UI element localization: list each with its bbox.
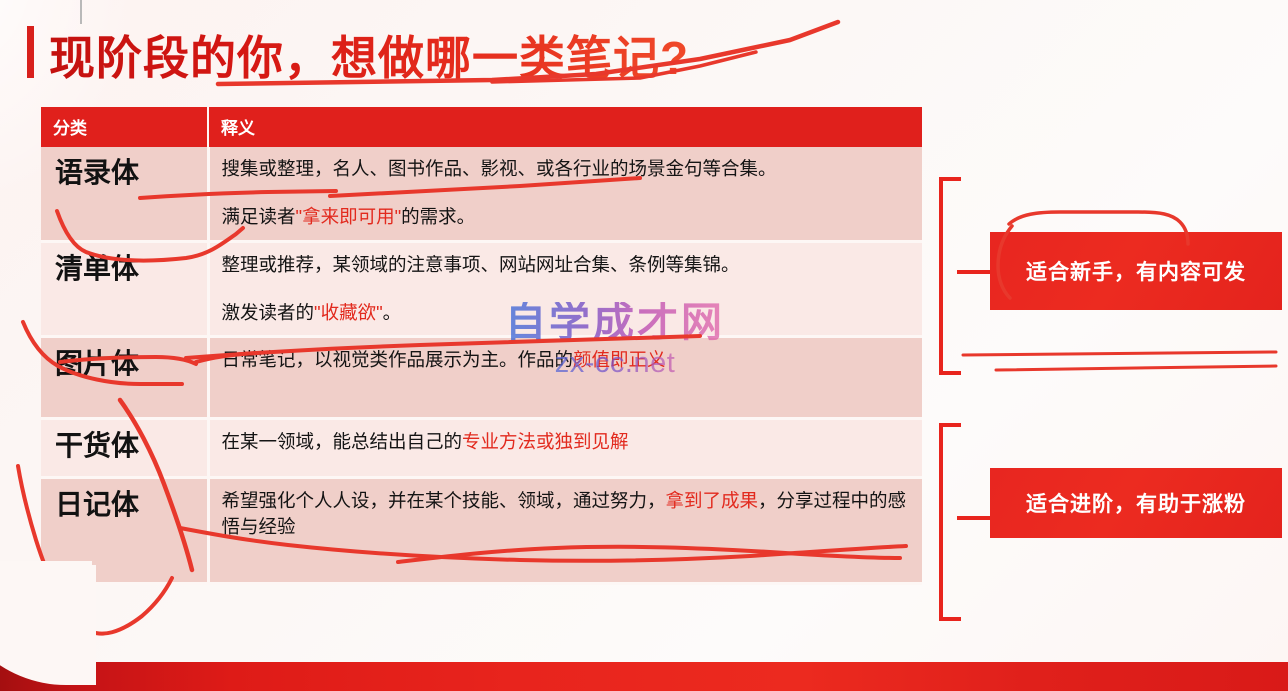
definition-text-highlight: 拿到了成果	[666, 490, 759, 511]
title-accent-bar	[27, 26, 34, 78]
bracket-group-beginner	[939, 177, 961, 375]
row-category-cell: 干货体	[41, 419, 208, 477]
table-header-category: 分类	[41, 107, 208, 147]
notes-type-table: 分类 释义 语录体 搜集或整理，名人、图书作品、影视、或各行业的场景金句等合集。…	[41, 107, 922, 585]
definition-paragraph-2: 激发读者的"收藏欲"。	[222, 300, 913, 326]
definition-paragraph-1: 整理或推荐，某领域的注意事项、网站网址合集、条例等集锦。	[222, 252, 913, 278]
callout-advanced-label: 适合进阶，有助于涨粉	[1026, 488, 1246, 518]
table-header-definition: 释义	[208, 107, 922, 147]
table-row: 干货体 在某一领域，能总结出自己的专业方法或独到见解	[41, 419, 922, 477]
definition-spacer	[222, 182, 913, 204]
definition-text-pre: 满足读者	[222, 206, 296, 227]
footer-band	[0, 662, 1288, 691]
definition-paragraph-2: 满足读者"拿来即可用"的需求。	[222, 204, 913, 230]
row-definition-cell: 整理或推荐，某领域的注意事项、网站网址合集、条例等集锦。 激发读者的"收藏欲"。	[208, 241, 922, 337]
definition-paragraph-1: 日常笔记，以视觉类作品展示为主。作品的颜值即正义	[222, 347, 913, 373]
footer-band-curve-decoration	[0, 561, 92, 681]
row-definition-cell: 搜集或整理，名人、图书作品、影视、或各行业的场景金句等合集。 满足读者"拿来即可…	[208, 147, 922, 241]
definition-text-highlight: "收藏欲"	[314, 302, 383, 323]
definition-text-pre: 希望强化个人人设，并在某个技能、领域，通过努力，	[222, 490, 666, 511]
callout-beginner-label: 适合新手，有内容可发	[1026, 256, 1246, 286]
table-row: 清单体 整理或推荐，某领域的注意事项、网站网址合集、条例等集锦。 激发读者的"收…	[41, 241, 922, 337]
definition-text-highlight: "拿来即可用"	[296, 206, 402, 227]
row-category-label: 语录体	[55, 147, 207, 187]
slide-canvas: 现阶段的你，想做哪一类笔记? 分类 释义 语录体 搜集或整理，名人、图书作品、影…	[0, 0, 1288, 691]
row-category-label: 日记体	[55, 479, 207, 519]
definition-text-highlight: 专业方法或独到见解	[462, 431, 629, 452]
definition-paragraph-1: 在某一领域，能总结出自己的专业方法或独到见解	[222, 429, 913, 455]
definition-paragraph-1: 希望强化个人人设，并在某个技能、领域，通过努力，拿到了成果，分享过程中的感悟与经…	[222, 488, 913, 541]
table-row: 图片体 日常笔记，以视觉类作品展示为主。作品的颜值即正义	[41, 337, 922, 419]
bracket-stem-advanced	[957, 516, 993, 520]
callout-beginner: 适合新手，有内容可发	[990, 232, 1282, 310]
callout-advanced: 适合进阶，有助于涨粉	[990, 468, 1282, 538]
row-category-cell: 语录体	[41, 147, 208, 241]
page-title: 现阶段的你，想做哪一类笔记?	[49, 22, 689, 88]
definition-text-highlight: 颜值即正义	[573, 349, 666, 370]
bracket-group-advanced	[939, 423, 961, 621]
row-category-label: 清单体	[55, 243, 207, 283]
table-row: 语录体 搜集或整理，名人、图书作品、影视、或各行业的场景金句等合集。 满足读者"…	[41, 147, 922, 241]
row-definition-cell: 在某一领域，能总结出自己的专业方法或独到见解	[208, 419, 922, 477]
row-category-label: 图片体	[55, 338, 207, 378]
definition-paragraph-1: 搜集或整理，名人、图书作品、影视、或各行业的场景金句等合集。	[222, 156, 913, 182]
table-header-row: 分类 释义	[41, 107, 922, 147]
row-category-label: 干货体	[55, 420, 207, 460]
table-row: 日记体 希望强化个人人设，并在某个技能、领域，通过努力，拿到了成果，分享过程中的…	[41, 477, 922, 584]
definition-text-pre: 在某一领域，能总结出自己的	[222, 431, 463, 452]
row-definition-cell: 日常笔记，以视觉类作品展示为主。作品的颜值即正义	[208, 337, 922, 419]
row-category-cell: 图片体	[41, 337, 208, 419]
bracket-stem-beginner	[957, 270, 993, 274]
definition-text-post: 。	[383, 302, 402, 323]
definition-text-post: 的需求。	[401, 206, 475, 227]
row-definition-cell: 希望强化个人人设，并在某个技能、领域，通过努力，拿到了成果，分享过程中的感悟与经…	[208, 477, 922, 584]
title-tick-decoration	[80, 0, 82, 24]
definition-text-pre: 日常笔记，以视觉类作品展示为主。作品的	[222, 349, 574, 370]
row-category-cell: 清单体	[41, 241, 208, 337]
definition-spacer	[222, 278, 913, 300]
definition-text-pre: 激发读者的	[222, 302, 315, 323]
